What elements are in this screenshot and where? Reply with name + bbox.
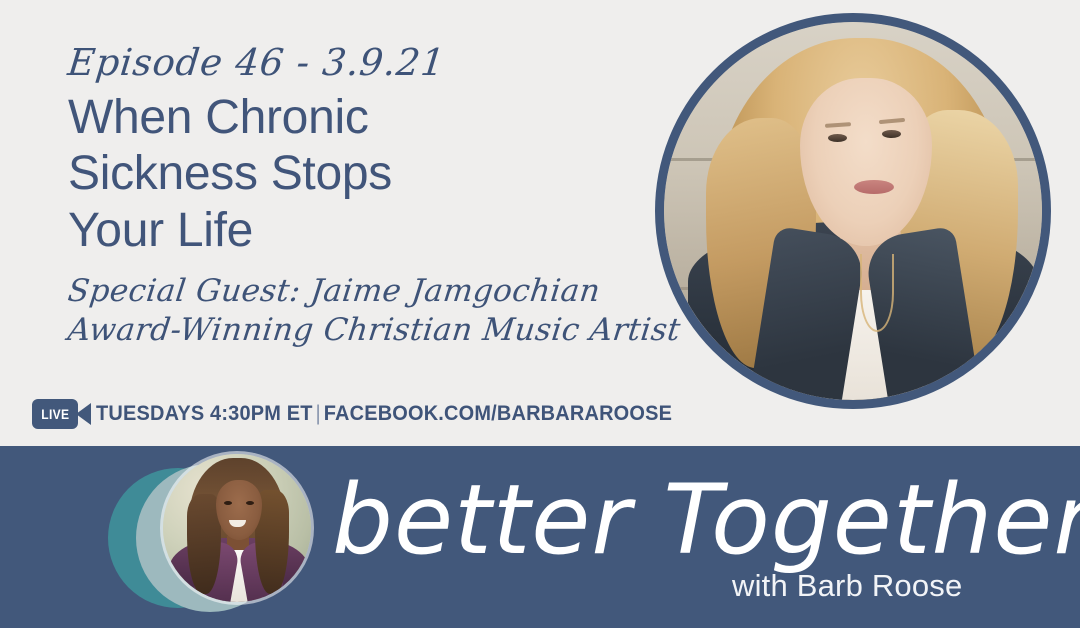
host-logo [108,454,318,620]
episode-promo-graphic: Episode 46 - 3.9.21 When Chronic Sicknes… [0,0,1080,628]
schedule-separator: | [313,402,324,425]
guest-lips [854,180,894,194]
guest-description-line: Award-Winning Christian Music Artist [66,311,631,351]
host-eye-left [224,501,232,505]
show-branding-bar: better Together with Barb Roose [0,446,1080,628]
live-badge-label: LIVE [41,406,69,422]
show-byline: with Barb Roose [732,568,962,604]
episode-eyebrow: Episode 46 - 3.9.21 [66,44,630,82]
guest-name-line: Special Guest: Jaime Jamgochian [66,272,631,312]
schedule-time: TUESDAYS 4:30PM ET [96,402,313,425]
show-title: better Together [332,472,1080,568]
episode-text-block: Episode 46 - 3.9.21 When Chronic Sicknes… [68,44,628,351]
episode-title-line-2: Sickness Stops [68,146,628,203]
guest-photo-inner [664,22,1042,400]
live-schedule-bar: LIVE TUESDAYS 4:30PM ET|FACEBOOK.COM/BAR… [32,399,702,429]
promo-top-section: Episode 46 - 3.9.21 When Chronic Sicknes… [0,0,1080,446]
episode-title-line-3: Your Life [68,203,628,260]
video-camera-icon [76,403,91,425]
guest-necklace [860,254,894,332]
live-schedule-text: TUESDAYS 4:30PM ET|FACEBOOK.COM/BARBARAR… [96,402,672,426]
episode-title: When Chronic Sickness Stops Your Life [68,90,628,260]
episode-title-line-1: When Chronic [68,90,628,147]
host-eye-right [246,501,254,505]
guest-eye-left [828,134,847,142]
live-badge: LIVE [32,399,78,429]
facebook-url: FACEBOOK.COM/BARBARAROOSE [324,402,672,425]
guest-photo [655,13,1051,409]
host-photo [163,454,311,602]
guest-eye-right [882,130,901,138]
guest-credit-block: Special Guest: Jaime Jamgochian Award-Wi… [68,272,628,351]
